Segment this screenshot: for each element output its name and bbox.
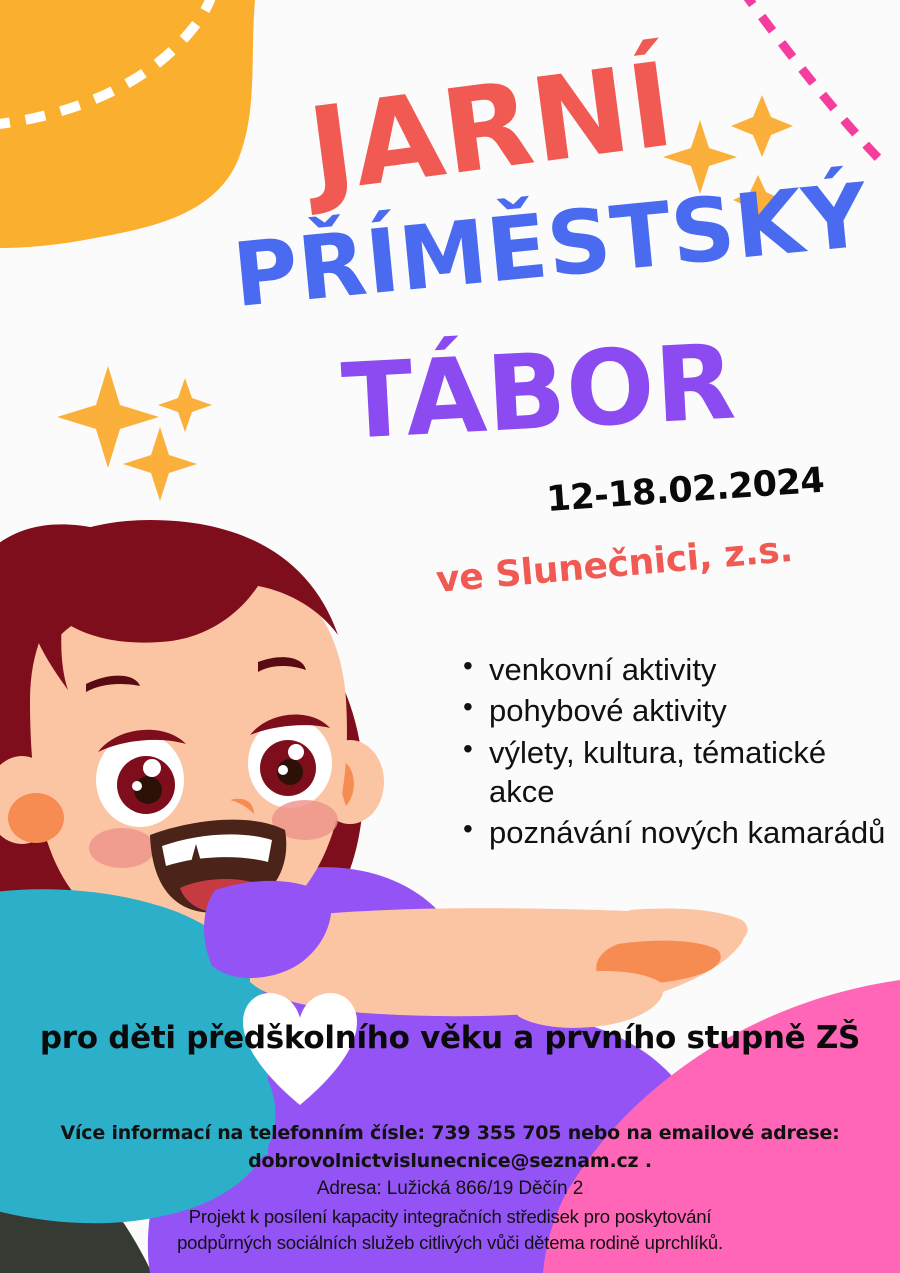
poster-background-art [0, 0, 900, 1273]
eye-highlight-right-2 [278, 765, 288, 775]
list-item: poznávání nových kamarádů [489, 813, 889, 852]
cheek-left [89, 828, 155, 868]
list-item: venkovní aktivity [489, 650, 889, 689]
address-line: Adresa: Lužická 866/19 Děčín 2 [0, 1175, 900, 1204]
project-description-line-2: podpůrných sociálních služeb citlivých v… [0, 1230, 900, 1257]
tagline-before: pro [40, 1020, 108, 1056]
list-item: pohybové aktivity [489, 691, 889, 730]
poster-canvas: JARNÍ PŘÍMĚSTSKÝ TÁBOR 12-18.02.2024 ve … [0, 0, 900, 1273]
tagline-after: předškolního věku a prvního stupně ZŠ [176, 1020, 860, 1056]
project-description-line-1: Projekt k posílení kapacity integračních… [0, 1204, 900, 1231]
list-item: výlety, kultura, tématické akce [489, 733, 889, 812]
tagline-highlight: děti [108, 1020, 175, 1056]
audience-tagline: pro děti předškolního věku a prvního stu… [0, 1020, 900, 1058]
eye-highlight-left [143, 759, 161, 777]
contact-phone-line: Více informací na telefonním čísle: 739 … [0, 1120, 900, 1148]
features-list: venkovní aktivity pohybové aktivity výle… [455, 650, 889, 855]
ear-blush-left [8, 793, 64, 843]
contact-email-line: dobrovolnictvislunecnice@seznam.cz . [0, 1148, 900, 1176]
eye-highlight-left-2 [132, 781, 142, 791]
eye-highlight-right [288, 744, 304, 760]
footer-info: Více informací na telefonním čísle: 739 … [0, 1120, 900, 1257]
